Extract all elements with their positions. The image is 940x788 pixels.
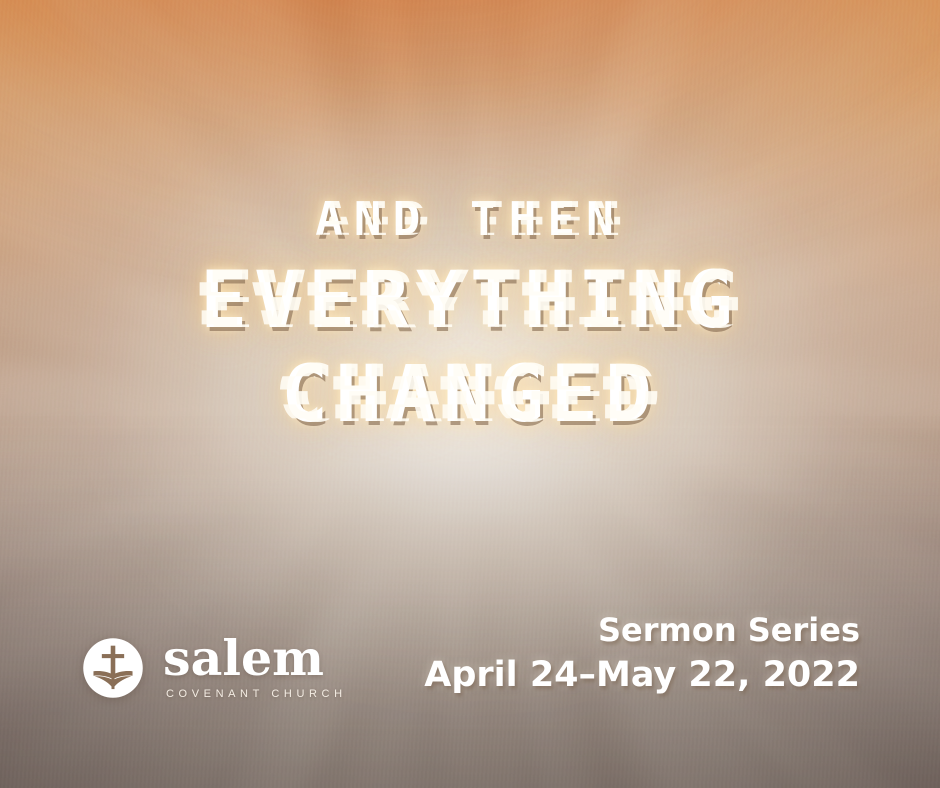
sermon-series-graphic: AND THEN AND THEN AND THEN AND THEN EVER…: [0, 0, 940, 788]
headline-line-2: EVERYTHING EVERYTHING EVERYTHING EVERYTH…: [0, 262, 940, 340]
headline-line-1-text: AND THEN: [315, 196, 625, 242]
logo-text-block: salem COVENANT CHURCH: [163, 635, 347, 700]
cross-and-open-book-circle-icon: [82, 637, 144, 699]
headline-block: AND THEN AND THEN AND THEN AND THEN EVER…: [0, 196, 940, 434]
headline-line-3-text: CHANGED: [281, 356, 659, 434]
headline-line-2-text: EVERYTHING: [200, 262, 740, 340]
headline-line-3: CHANGED CHANGED CHANGED CHANGED CHANGED …: [0, 356, 940, 434]
church-logo: salem COVENANT CHURCH: [82, 635, 347, 700]
series-label: Sermon Series: [424, 612, 860, 650]
logo-wordmark: salem: [163, 635, 347, 682]
series-info: Sermon Series April 24–May 22, 2022: [424, 612, 860, 696]
series-dates: April 24–May 22, 2022: [424, 654, 860, 696]
headline-line-1: AND THEN AND THEN AND THEN AND THEN: [0, 196, 940, 242]
logo-tagline: COVENANT CHURCH: [163, 688, 347, 700]
